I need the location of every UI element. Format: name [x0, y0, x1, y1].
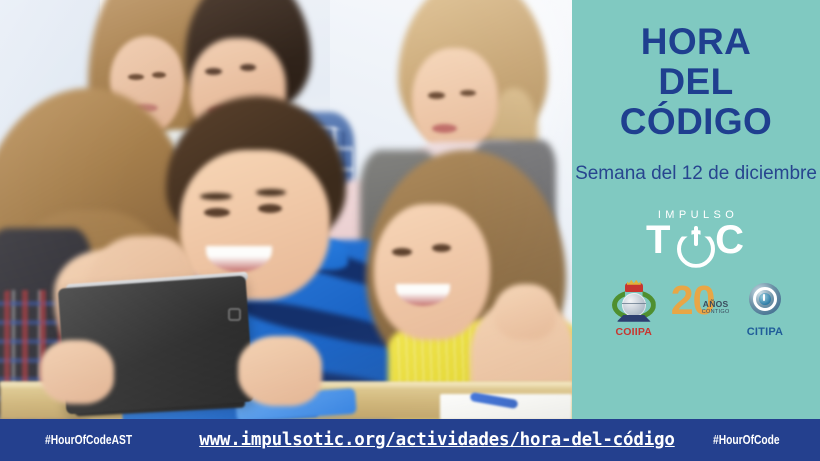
bottom-bar: #HourOfCodeAST www.impulsotic.org/activi… [0, 419, 820, 461]
blonde-girl-eye-right [460, 90, 476, 96]
center-boy-eye-left [204, 208, 230, 217]
anniversary-line-1: AÑOS [702, 300, 730, 309]
coiipa-crest-icon [609, 283, 659, 325]
partner-logo-coiipa: COIIPA [609, 283, 659, 338]
center-boy-eye-right [258, 204, 282, 213]
citipa-center-dot-icon [759, 293, 771, 305]
boy-dark-eye-left [205, 68, 222, 75]
right-hand-holding-tablet [238, 336, 322, 406]
poster-canvas: HORA DEL CÓDIGO Semana del 12 de diciemb… [0, 0, 820, 461]
yellow-girl-face [374, 204, 490, 340]
impulso-letter-t: T [646, 220, 670, 260]
title-line-3: CÓDIGO [572, 102, 820, 142]
event-date-subtitle: Semana del 12 de diciembre [572, 161, 820, 187]
girl-background-eye-left [128, 74, 144, 80]
girl-background-eye-right [152, 72, 166, 78]
tablet-home-button-icon [228, 308, 241, 321]
citipa-emblem-icon [748, 282, 782, 324]
blonde-girl-eye-left [428, 92, 445, 99]
yellow-girl-hand [494, 284, 556, 340]
anniversary-mark-icon: 20 AÑOS CONTIGO [671, 283, 735, 325]
citipa-label: CITIPA [747, 326, 783, 338]
impulso-letter-c: C [715, 220, 744, 260]
impulso-tic-lettermark: T C [630, 222, 762, 268]
classroom-photo [0, 0, 572, 419]
impulso-tic-logo: IMPULSO T C [630, 209, 762, 268]
website-url-link[interactable]: www.impulsotic.org/actividades/hora-del-… [199, 430, 674, 450]
center-boy-brow-left [200, 193, 232, 200]
partner-logo-anniversary: 20 AÑOS CONTIGO [671, 283, 735, 338]
partner-logos-row: COIIPA 20 AÑOS CONTIGO CITIP [572, 282, 820, 338]
hashtag-left: #HourOfCodeAST [45, 433, 132, 447]
left-hand-holding-tablet [40, 340, 114, 404]
partner-logo-citipa: CITIPA [747, 282, 783, 338]
coiipa-label: COIIPA [615, 326, 652, 338]
hashtag-right: #HourOfCode [713, 433, 780, 447]
globe-icon [622, 293, 646, 317]
center-boy-brow-right [256, 189, 286, 196]
anniversary-caption: AÑOS CONTIGO [702, 300, 730, 315]
page-title: HORA DEL CÓDIGO [572, 22, 820, 142]
blonde-girl-mouth [432, 124, 457, 133]
power-button-bar-icon [694, 226, 698, 246]
anniversary-line-2: CONTIGO [702, 309, 730, 315]
blonde-girl-face [412, 48, 498, 152]
yellow-girl-eye-left [392, 248, 412, 256]
teal-info-panel: HORA DEL CÓDIGO Semana del 12 de diciemb… [572, 0, 820, 419]
title-line-1: HORA [572, 22, 820, 62]
boy-dark-eye-right [240, 64, 256, 71]
yellow-girl-eye-right [432, 244, 451, 252]
crown-icon [625, 283, 643, 292]
title-line-2: DEL [572, 62, 820, 102]
